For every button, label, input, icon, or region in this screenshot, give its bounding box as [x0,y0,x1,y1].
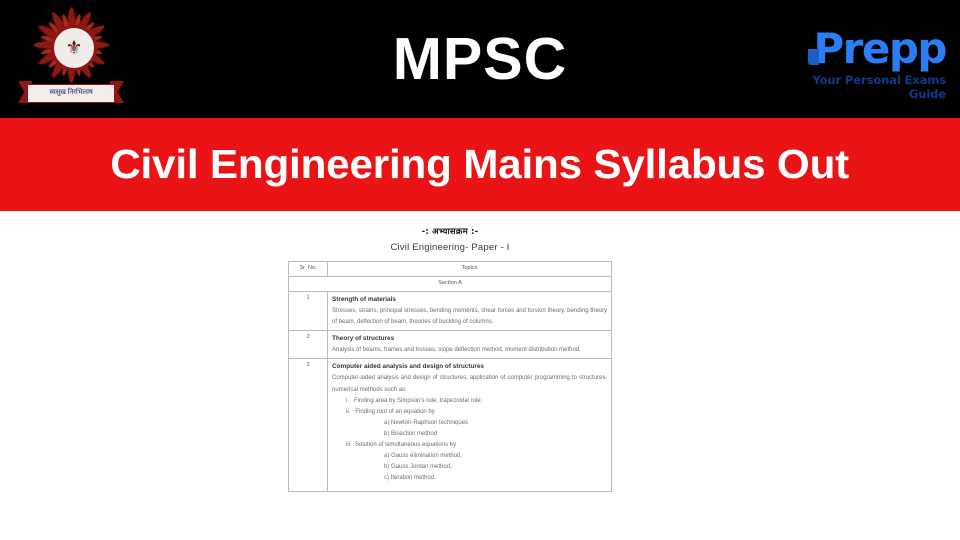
topic-title: Theory of structures [332,333,607,344]
headline-text: Civil Engineering Mains Syllabus Out [111,141,850,188]
sub-item-marker: iii. [346,442,352,448]
column-header-sr-no: Sr. No. [289,262,328,277]
row-content: Computer aided analysis and design of st… [328,359,612,492]
section-row: Section A [289,276,612,291]
document-heading: -: अभ्यासक्रम :- [288,226,612,237]
sub-item-marker: i. [346,398,349,404]
sub-sub-item: a) Newton-Raphson techniques [332,418,607,429]
row-number: 2 [289,330,328,358]
topic-body: Analysis of beams, frames and trusses, s… [332,345,607,356]
headline-banner: Civil Engineering Mains Syllabus Out [0,118,960,211]
sub-sub-item: a) Gauss elimination method, [332,451,607,462]
document-subheading: Civil Engineering- Paper - I [288,242,612,253]
column-header-topics: Topics [328,262,612,277]
row-content: Strength of materials Stresses, strains,… [328,291,612,330]
sub-item: i. Finding area by Simpson's rule, trape… [332,396,607,407]
sub-item-text: Solution of simultaneous equations by [355,442,456,448]
prepp-wordmark: Prepp [801,28,946,70]
prepp-logo[interactable]: Prepp Your Personal Exams Guide [801,28,946,90]
section-label: Section A [289,276,612,291]
slide-canvas: ⚜ स्वसुख निरभिलाष MPSC Prepp Your Person… [0,0,960,540]
row-content: Theory of structures Analysis of beams, … [328,330,612,358]
sub-sub-item: b) Bisection method [332,429,607,440]
syllabus-document: -: अभ्यासक्रम :- Civil Engineering- Pape… [288,226,612,492]
sub-item-list: i. Finding area by Simpson's rule, trape… [332,396,607,485]
sub-sub-item: c) Iteration method. [332,473,607,484]
syllabus-table: Sr. No. Topics Section A 1 Strength of m… [288,261,612,492]
table-row: 1 Strength of materials Stresses, strain… [289,291,612,330]
table-row: 2 Theory of structures Analysis of beams… [289,330,612,358]
sub-sub-item: b) Gauss Jordan method, [332,462,607,473]
header-bar: ⚜ स्वसुख निरभिलाष MPSC Prepp Your Person… [0,0,960,118]
prepp-p-accent-icon [808,49,819,65]
sub-item-text: Finding area by Simpson's rule, trapezoi… [354,398,482,404]
table-header-row: Sr. No. Topics [289,262,612,277]
sub-item-marker: ii. [346,409,350,415]
row-number: 3 [289,359,328,492]
table-row: 3 Computer aided analysis and design of … [289,359,612,492]
topic-title: Strength of materials [332,294,607,305]
sub-item-text: Finding root of an equation by [355,409,434,415]
sub-item: ii. Finding root of an equation by [332,407,607,418]
topic-body: Computer-aided analysis and design of st… [332,373,607,395]
row-number: 1 [289,291,328,330]
topic-body: Stresses, strains, principal stresses, b… [332,306,607,328]
sub-item: iii. Solution of simultaneous equations … [332,440,607,451]
topic-title: Computer aided analysis and design of st… [332,361,607,372]
prepp-tagline: Your Personal Exams Guide [801,73,946,101]
